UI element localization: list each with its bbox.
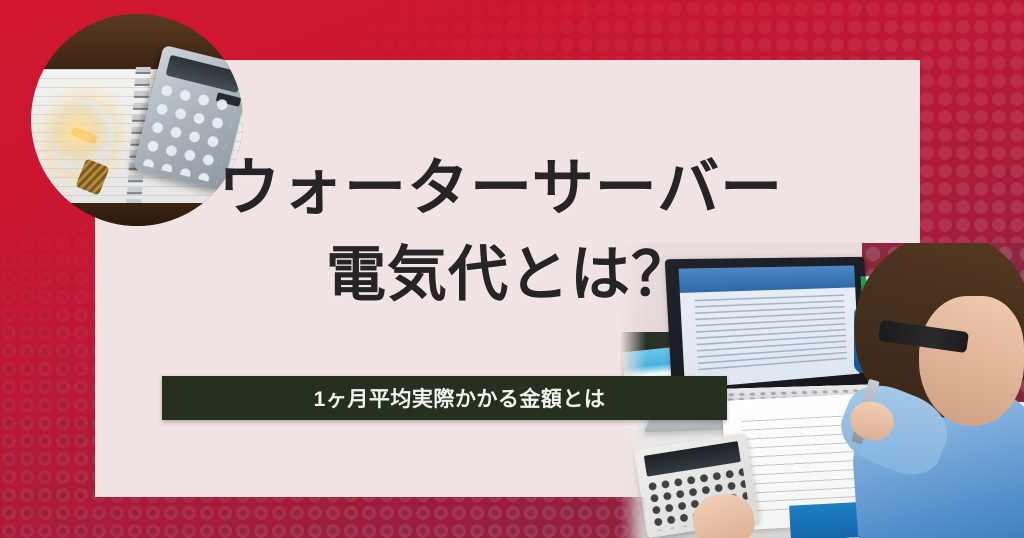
page-title-line-1: ウォーターサーバー: [218, 152, 818, 226]
page-title-line-2: 電気代とは？: [326, 240, 818, 310]
subtitle-bar: 1ヶ月平均実際かかる金額とは: [162, 376, 727, 420]
wood-desk-bottom: [31, 203, 243, 226]
banner: ウォーターサーバー 電気代とは？ 1ヶ月平均実際かかる金額とは: [0, 0, 1024, 538]
lightbulb-notebook-calculator-photo: [31, 14, 243, 226]
woman-face: [919, 296, 1024, 426]
subtitle-text: 1ヶ月平均実際かかる金額とは: [162, 376, 727, 420]
title-block: ウォーターサーバー 電気代とは？: [218, 152, 818, 310]
